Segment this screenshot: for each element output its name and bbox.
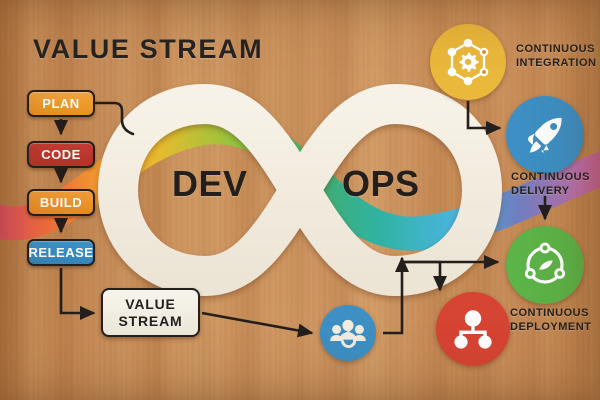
arrow-team-branch-up xyxy=(383,258,402,333)
badge-continuous-deployment[interactable] xyxy=(436,292,510,366)
arrow-release-to-value-stream xyxy=(61,268,94,313)
arrow-ci-to-rocket xyxy=(468,101,500,128)
value-stream-line2: STREAM xyxy=(119,313,183,330)
stage-box-release[interactable]: RELEASE xyxy=(27,239,95,266)
value-stream-line1: VALUE xyxy=(125,296,175,313)
value-stream-summary-box[interactable]: VALUE STREAM xyxy=(101,288,200,337)
hierarchy-icon xyxy=(450,306,496,352)
stage-label-release: RELEASE xyxy=(29,245,94,260)
badge-team[interactable] xyxy=(320,305,376,361)
connector-plan-to-loop xyxy=(96,103,133,134)
arrow-value-stream-to-team xyxy=(202,313,312,333)
loop-word-dev: DEV xyxy=(172,163,248,205)
infographic-canvas: VALUE STREAM PLAN CODE BUILD RELEASE VAL… xyxy=(0,0,600,400)
loop-word-ops: OPS xyxy=(342,163,420,205)
stage-label-build: BUILD xyxy=(40,195,82,210)
page-title: VALUE STREAM xyxy=(33,34,263,65)
badge-continuous-integration[interactable] xyxy=(430,24,506,100)
stage-box-plan[interactable]: PLAN xyxy=(27,90,95,117)
label-continuous-integration: CONTINUOUS INTEGRATION xyxy=(516,43,596,70)
people-group-icon xyxy=(329,314,367,352)
label-continuous-deployment: CONTINUOUS DEPLOYMENT xyxy=(510,307,591,334)
stage-box-code[interactable]: CODE xyxy=(27,141,95,168)
gauge-cycle-icon xyxy=(519,239,571,291)
rocket-icon xyxy=(520,110,570,160)
arrow-branch-to-deployment xyxy=(402,262,440,290)
badge-continuous-delivery[interactable] xyxy=(506,226,584,304)
badge-rocket[interactable] xyxy=(506,96,584,174)
stage-box-build[interactable]: BUILD xyxy=(27,189,95,216)
label-continuous-delivery: CONTINUOUS DELIVERY xyxy=(511,171,590,198)
stage-label-code: CODE xyxy=(41,147,81,162)
network-gear-icon xyxy=(442,36,494,88)
stage-label-plan: PLAN xyxy=(42,96,79,111)
